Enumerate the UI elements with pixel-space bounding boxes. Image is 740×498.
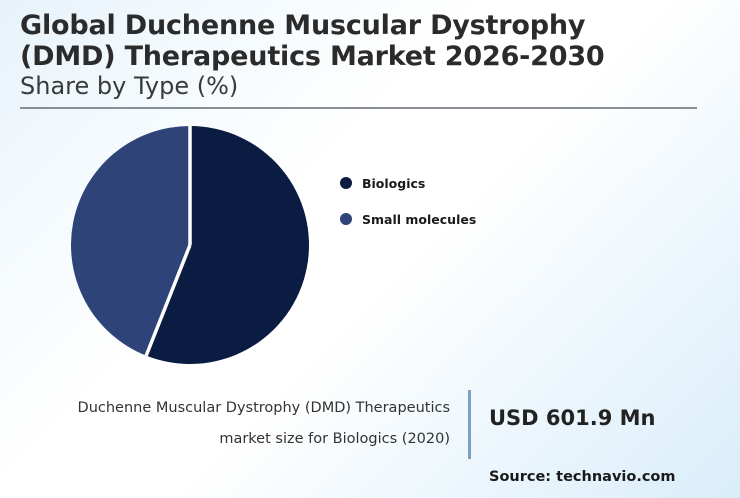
stat-caption-line-2: market size for Biologics (2020) (30, 424, 450, 455)
pie-chart (71, 126, 309, 364)
infographic-canvas: Global Duchenne Muscular Dystrophy (DMD)… (0, 0, 740, 498)
chart-legend: Biologics Small molecules (340, 172, 560, 244)
page-title: Global Duchenne Muscular Dystrophy (DMD)… (20, 10, 700, 101)
legend-item-biologics[interactable]: Biologics (340, 172, 560, 194)
title-divider (20, 107, 697, 109)
stat-caption: Duchenne Muscular Dystrophy (DMD) Therap… (30, 393, 450, 455)
subtitle: Share by Type (%) (20, 72, 700, 101)
title-line-2: (DMD) Therapeutics Market 2026-2030 (20, 41, 700, 72)
title-line-1: Global Duchenne Muscular Dystrophy (20, 10, 700, 41)
stat-caption-line-1: Duchenne Muscular Dystrophy (DMD) Therap… (30, 393, 450, 424)
circle-marker-icon (340, 213, 352, 225)
source-label: Source: technavio.com (489, 469, 676, 485)
pie-chart-svg (71, 126, 309, 364)
circle-marker-icon (340, 177, 352, 189)
legend-item-small-molecules[interactable]: Small molecules (340, 208, 560, 230)
legend-label-biologics: Biologics (362, 176, 425, 191)
legend-label-small-molecules: Small molecules (362, 212, 476, 227)
stat-value: USD 601.9 Mn (489, 406, 656, 430)
stat-divider (468, 390, 471, 459)
